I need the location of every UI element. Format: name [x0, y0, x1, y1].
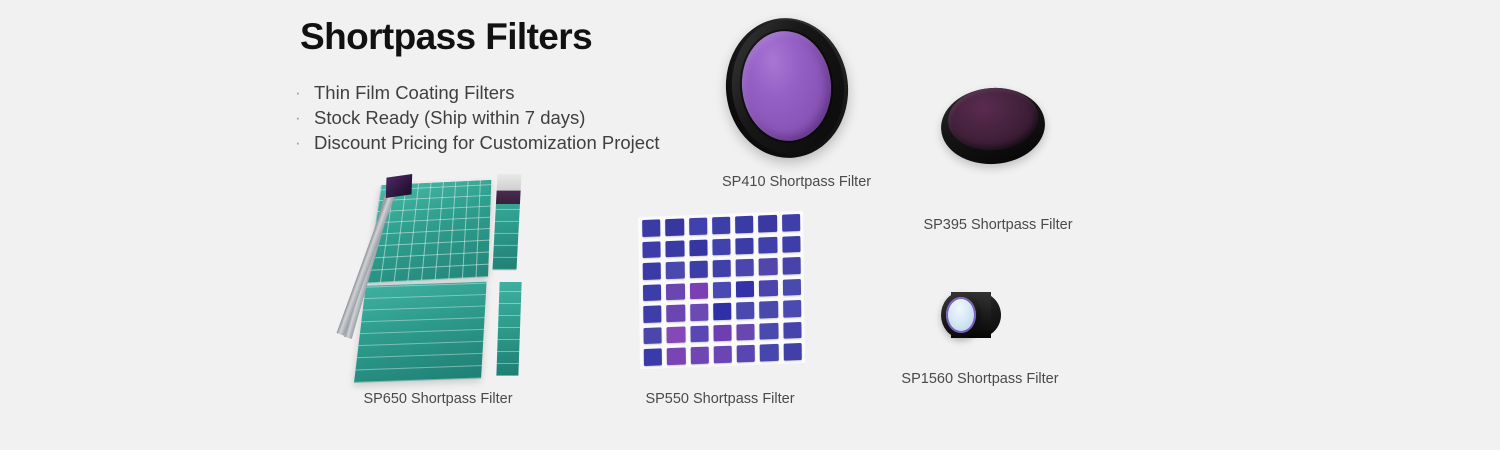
sp550-chip	[712, 238, 730, 255]
sp550-chip	[642, 219, 660, 236]
sp550-chip	[737, 324, 755, 341]
tweezer-held-chip	[386, 174, 412, 198]
sp550-chip	[666, 283, 684, 300]
sp550-chip	[665, 218, 683, 235]
sp550-chip	[736, 302, 754, 319]
sp550-chip-array	[642, 214, 802, 366]
sp550-chip	[644, 349, 662, 366]
sp550-chip	[760, 323, 778, 340]
product-image-sp1560	[941, 290, 1003, 344]
sp1560-filter-glass	[946, 297, 976, 333]
sp550-chip	[783, 300, 801, 317]
sp550-chip	[760, 344, 778, 361]
bullet-dot-icon: ·	[295, 105, 301, 130]
list-item: · Thin Film Coating Filters	[292, 80, 659, 105]
sp550-chip	[736, 280, 754, 297]
sp550-chip	[642, 241, 660, 258]
product-caption-sp1560: SP1560 Shortpass Filter	[900, 371, 1060, 387]
sp550-chip	[690, 304, 708, 321]
sp550-chip	[643, 327, 661, 344]
sp550-chip	[666, 262, 684, 279]
product-image-sp410	[726, 18, 854, 168]
product-image-sp395	[941, 84, 1049, 168]
sp650-wafer-top-right	[492, 174, 521, 270]
page-title: Shortpass Filters	[300, 16, 592, 59]
sp550-chip	[689, 261, 707, 278]
product-caption-sp650: SP650 Shortpass Filter	[358, 391, 518, 407]
sp550-chip	[713, 281, 731, 298]
sp550-chip	[759, 236, 777, 253]
list-item: · Stock Ready (Ship within 7 days)	[292, 105, 659, 130]
bullet-text: Stock Ready (Ship within 7 days)	[314, 107, 585, 128]
sp550-chip	[666, 305, 684, 322]
sp550-chip	[689, 282, 707, 299]
product-caption-sp410: SP410 Shortpass Filter	[722, 174, 858, 190]
sp550-chip	[783, 279, 801, 296]
sp550-chip	[783, 322, 801, 339]
sp550-chip	[736, 237, 754, 254]
sp550-chip	[714, 346, 732, 363]
sp550-chip	[737, 345, 755, 362]
sp550-chip	[666, 240, 684, 257]
sp550-chip	[759, 280, 777, 297]
sp550-chip	[690, 347, 708, 364]
sp550-chip	[782, 257, 800, 274]
feature-bullet-list: · Thin Film Coating Filters · Stock Read…	[292, 80, 659, 155]
sp550-chip	[736, 259, 754, 276]
product-caption-sp395: SP395 Shortpass Filter	[918, 217, 1078, 233]
tweezers-icon	[358, 176, 416, 344]
bullet-dot-icon: ·	[295, 80, 301, 105]
sp650-scribe-lines	[496, 282, 521, 376]
sp550-chip	[782, 214, 800, 231]
sp550-chip	[643, 262, 661, 279]
sp550-chip	[713, 303, 731, 320]
sp550-chip	[735, 216, 753, 233]
sp550-chip	[689, 218, 707, 235]
sp550-chip	[643, 284, 661, 301]
sp550-chip	[667, 326, 685, 343]
sp550-chip	[759, 215, 777, 232]
bullet-text: Thin Film Coating Filters	[314, 82, 514, 103]
bullet-text: Discount Pricing for Customization Proje…	[314, 132, 659, 153]
sp550-chip	[759, 258, 777, 275]
tweezer-arm-right	[337, 183, 399, 336]
sp650-wafer-top-cap	[496, 174, 522, 204]
sp550-chip	[782, 236, 800, 253]
product-image-sp650	[352, 170, 542, 370]
sp550-chip	[760, 301, 778, 318]
sp650-wafer-bottom-right	[496, 282, 521, 376]
sp550-chip	[783, 343, 801, 360]
product-caption-sp550: SP550 Shortpass Filter	[640, 391, 800, 407]
sp550-chip	[690, 325, 708, 342]
list-item: · Discount Pricing for Customization Pro…	[292, 130, 659, 155]
sp550-chip	[712, 217, 730, 234]
sp550-chip	[667, 348, 685, 365]
bullet-dot-icon: ·	[295, 130, 301, 155]
sp550-chip	[689, 239, 707, 256]
sp550-chip	[643, 306, 661, 323]
sp550-chip	[713, 325, 731, 342]
sp550-chip	[712, 260, 730, 277]
product-image-sp550	[639, 214, 804, 366]
shortpass-filters-banner: Shortpass Filters · Thin Film Coating Fi…	[0, 0, 1500, 450]
